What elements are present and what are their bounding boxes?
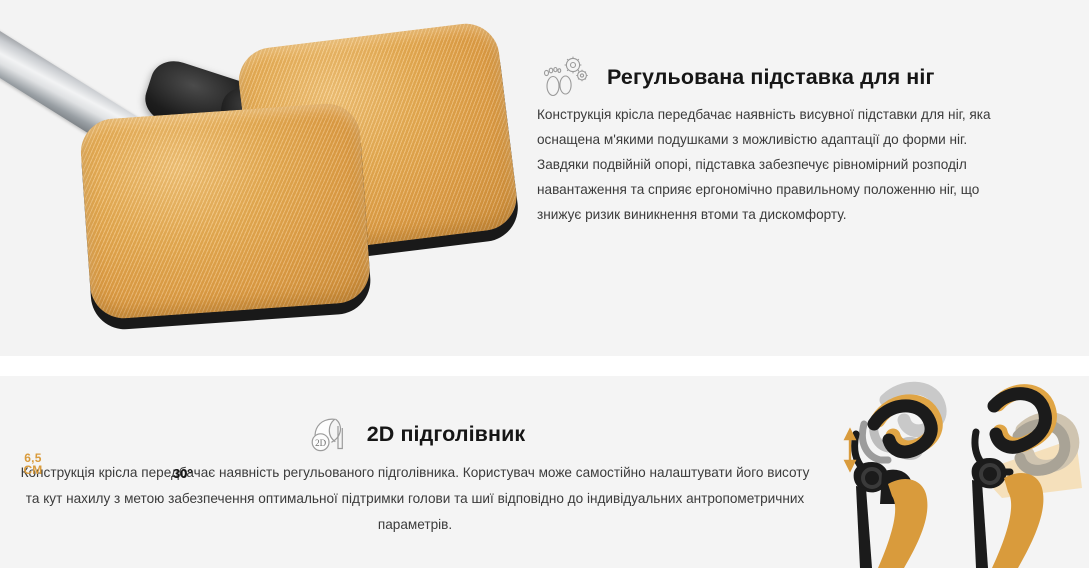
- footrest-photo: [0, 0, 530, 356]
- headrest-adjustment-diagram: [826, 376, 1089, 568]
- section-body-text: Конструкція крісла передбачає наявність …: [18, 460, 812, 538]
- footprints-gears-icon: [537, 50, 591, 104]
- svg-text:2D: 2D: [315, 438, 327, 448]
- height-dimension-label: 6,5 СМ: [20, 452, 46, 476]
- pad-cushion: [79, 102, 372, 321]
- section-footrest: Регульована підставка для ніг Конструкці…: [0, 0, 1089, 356]
- headrest-heading-row: 2D 2D підголівник: [0, 410, 830, 458]
- section-divider: [0, 356, 1089, 376]
- headrest-angle-diagram: [972, 392, 1082, 568]
- footrest-heading-row: Регульована підставка для ніг: [537, 50, 935, 104]
- section-body-text: Конструкція крісла передбачає наявність …: [537, 102, 1017, 227]
- height-unit: СМ: [23, 463, 42, 477]
- headrest-height-diagram: [846, 388, 941, 568]
- section-headrest: 2D 2D підголівник Конструкція крісла пер…: [0, 376, 1089, 568]
- section-title: 2D підголівник: [367, 422, 526, 447]
- section-title: Регульована підставка для ніг: [607, 65, 935, 90]
- angle-label: 30°: [173, 466, 193, 481]
- product-feature-page: Регульована підставка для ніг Конструкці…: [0, 0, 1089, 568]
- headrest-2d-icon: 2D: [305, 410, 353, 458]
- footrest-text-pane: Регульована підставка для ніг Конструкці…: [530, 0, 1089, 356]
- footrest-pad-lower: [79, 112, 372, 331]
